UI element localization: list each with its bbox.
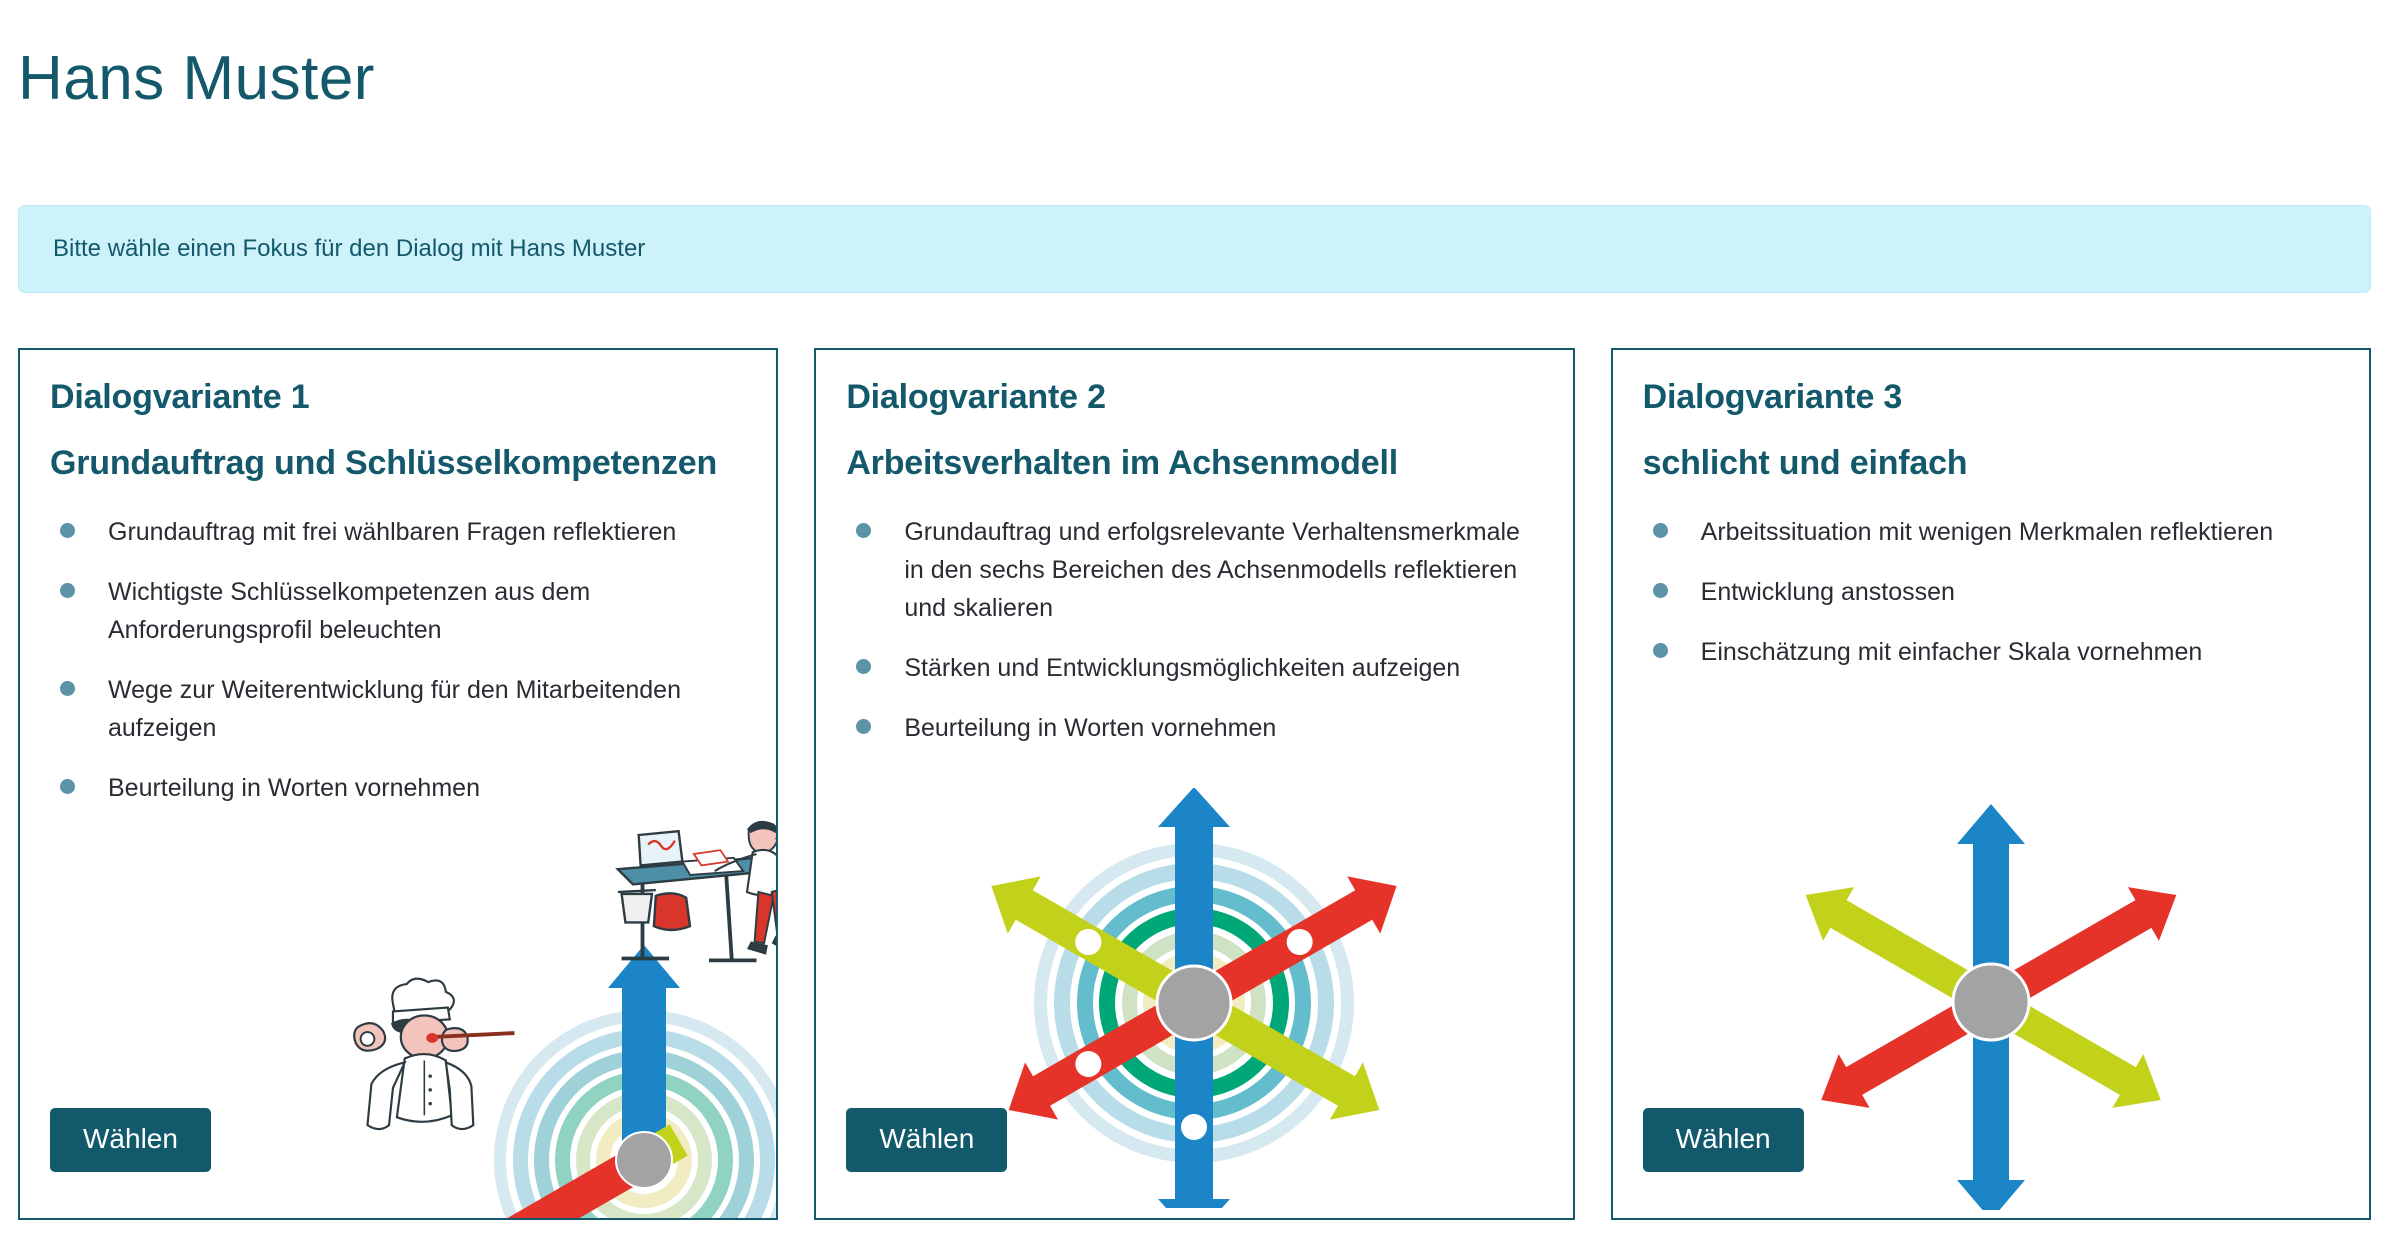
card-2-heading: Arbeitsverhalten im Achsenmodell: [846, 442, 1542, 486]
list-item: Grundauftrag und erfolgsrelevante Verhal…: [846, 513, 1542, 627]
bullet-dot-icon: [856, 659, 871, 674]
card-dialogvariante-2[interactable]: Dialogvariante 2 Arbeitsverhalten im Ach…: [814, 348, 1574, 1220]
list-item: Arbeitssituation mit wenigen Merkmalen r…: [1643, 513, 2339, 551]
bullet-dot-icon: [856, 523, 871, 538]
bullet-dot-icon: [1653, 523, 1668, 538]
bullet-dot-icon: [856, 719, 871, 734]
bullet-dot-icon: [60, 523, 75, 538]
card-3-kicker: Dialogvariante 3: [1643, 376, 2339, 420]
list-item-text: Grundauftrag mit frei wählbaren Fragen r…: [108, 513, 676, 551]
list-item-text: Entwicklung anstossen: [1701, 573, 1955, 611]
list-item-text: Wege zur Weiterentwicklung für den Mitar…: [108, 671, 746, 747]
list-item-text: Beurteilung in Worten vornehmen: [108, 769, 480, 807]
card-2-kicker: Dialogvariante 2: [846, 376, 1542, 420]
list-item-text: Stärken und Entwicklungsmöglichkeiten au…: [904, 649, 1460, 687]
list-item: Beurteilung in Worten vornehmen: [50, 769, 746, 807]
list-item: Beurteilung in Worten vornehmen: [846, 709, 1542, 747]
choose-button-variant-2[interactable]: Wählen: [846, 1108, 1007, 1172]
card-dialogvariante-1[interactable]: Dialogvariante 1 Grundauftrag und Schlüs…: [18, 348, 778, 1220]
list-item-text: Wichtigste Schlüsselkompetenzen aus dem …: [108, 573, 746, 649]
illustration-people-and-partial-axis-model: [314, 808, 778, 1220]
bullet-dot-icon: [60, 583, 75, 598]
bullet-dot-icon: [1653, 583, 1668, 598]
card-1-heading: Grundauftrag und Schlüsselkompetenzen: [50, 442, 746, 486]
list-item-text: Arbeitssituation mit wenigen Merkmalen r…: [1701, 513, 2273, 551]
bullet-dot-icon: [1653, 643, 1668, 658]
choose-button-variant-1[interactable]: Wählen: [50, 1108, 211, 1172]
illustration-axis-model-with-rings: [984, 788, 1404, 1208]
illustration-axis-model-plain: [1771, 790, 2211, 1210]
choose-button-variant-3[interactable]: Wählen: [1643, 1108, 1804, 1172]
info-banner: Bitte wähle einen Fokus für den Dialog m…: [18, 205, 2371, 293]
card-dialogvariante-3[interactable]: Dialogvariante 3 schlicht und einfach Ar…: [1611, 348, 2371, 1220]
card-3-heading: schlicht und einfach: [1643, 442, 2339, 486]
list-item: Wichtigste Schlüsselkompetenzen aus dem …: [50, 573, 746, 649]
list-item-text: Grundauftrag und erfolgsrelevante Verhal…: [904, 513, 1542, 627]
dialog-variant-cards: Dialogvariante 1 Grundauftrag und Schlüs…: [18, 348, 2371, 1220]
card-1-bullet-list: Grundauftrag mit frei wählbaren Fragen r…: [50, 513, 746, 807]
list-item-text: Einschätzung mit einfacher Skala vornehm…: [1701, 633, 2203, 671]
list-item-text: Beurteilung in Worten vornehmen: [904, 709, 1276, 747]
card-1-kicker: Dialogvariante 1: [50, 376, 746, 420]
list-item: Stärken und Entwicklungsmöglichkeiten au…: [846, 649, 1542, 687]
card-3-bullet-list: Arbeitssituation mit wenigen Merkmalen r…: [1643, 513, 2339, 671]
info-banner-text: Bitte wähle einen Fokus für den Dialog m…: [19, 235, 645, 264]
card-2-bullet-list: Grundauftrag und erfolgsrelevante Verhal…: [846, 513, 1542, 747]
list-item: Einschätzung mit einfacher Skala vornehm…: [1643, 633, 2339, 671]
bullet-dot-icon: [60, 681, 75, 696]
list-item: Wege zur Weiterentwicklung für den Mitar…: [50, 671, 746, 747]
list-item: Grundauftrag mit frei wählbaren Fragen r…: [50, 513, 746, 551]
list-item: Entwicklung anstossen: [1643, 573, 2339, 611]
bullet-dot-icon: [60, 779, 75, 794]
page-title: Hans Muster: [18, 48, 375, 110]
page-root: Hans Muster Bitte wähle einen Fokus für …: [0, 0, 2385, 1240]
